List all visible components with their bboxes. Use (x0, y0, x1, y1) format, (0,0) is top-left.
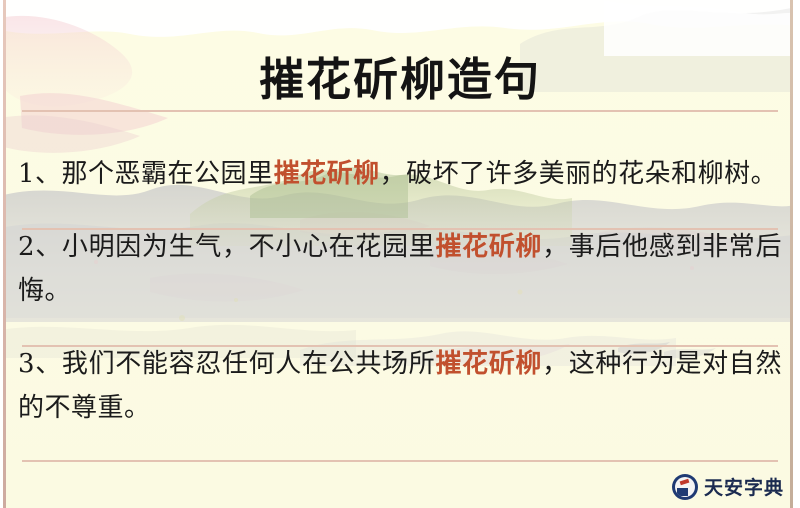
divider-bottom (22, 460, 778, 462)
sentence-item: 2、小明因为生气，不小心在花园里摧花斫柳，事后他感到非常后悔。 (18, 225, 782, 313)
sentence-index: 2、 (18, 232, 62, 262)
idiom-highlight: 摧花斫柳 (435, 349, 542, 379)
page-root: 摧花斫柳造句 1、那个恶霸在公园里摧花斫柳，破坏了许多美丽的花朵和柳树。 2、小… (0, 0, 800, 508)
circular-seal-icon (672, 474, 698, 500)
page-title: 摧花斫柳造句 (0, 52, 800, 108)
divider-after-sentence-1 (22, 228, 778, 230)
sentence-list: 1、那个恶霸在公园里摧花斫柳，破坏了许多美丽的花朵和柳树。 2、小明因为生气，不… (18, 126, 782, 456)
idiom-highlight: 摧花斫柳 (274, 159, 380, 189)
brand-watermark: 天安字典 (672, 473, 784, 500)
sentence-text-before: 小明因为生气，不小心在花园里 (62, 232, 435, 262)
sentence-text-after: ，破坏了许多美丽的花朵和柳树。 (380, 159, 778, 189)
sentence-item: 3、我们不能容忍任何人在公共场所摧花斫柳，这种行为是对自然的不尊重。 (18, 342, 782, 430)
divider-top (22, 110, 778, 112)
sentence-index: 1、 (18, 159, 62, 189)
page-outer-right-margin (793, 0, 800, 508)
sentence-item: 1、那个恶霸在公园里摧花斫柳，破坏了许多美丽的花朵和柳树。 (18, 152, 782, 196)
sentence-index: 3、 (18, 349, 62, 379)
page-outer-left-margin (0, 0, 3, 508)
sentence-text-before: 我们不能容忍任何人在公共场所 (62, 349, 435, 379)
idiom-highlight: 摧花斫柳 (435, 232, 542, 262)
page-content: 摧花斫柳造句 1、那个恶霸在公园里摧花斫柳，破坏了许多美丽的花朵和柳树。 2、小… (0, 0, 800, 508)
brand-name-label: 天安字典 (704, 473, 784, 500)
sentence-text-before: 那个恶霸在公园里 (62, 159, 274, 189)
divider-after-sentence-2 (22, 345, 778, 347)
